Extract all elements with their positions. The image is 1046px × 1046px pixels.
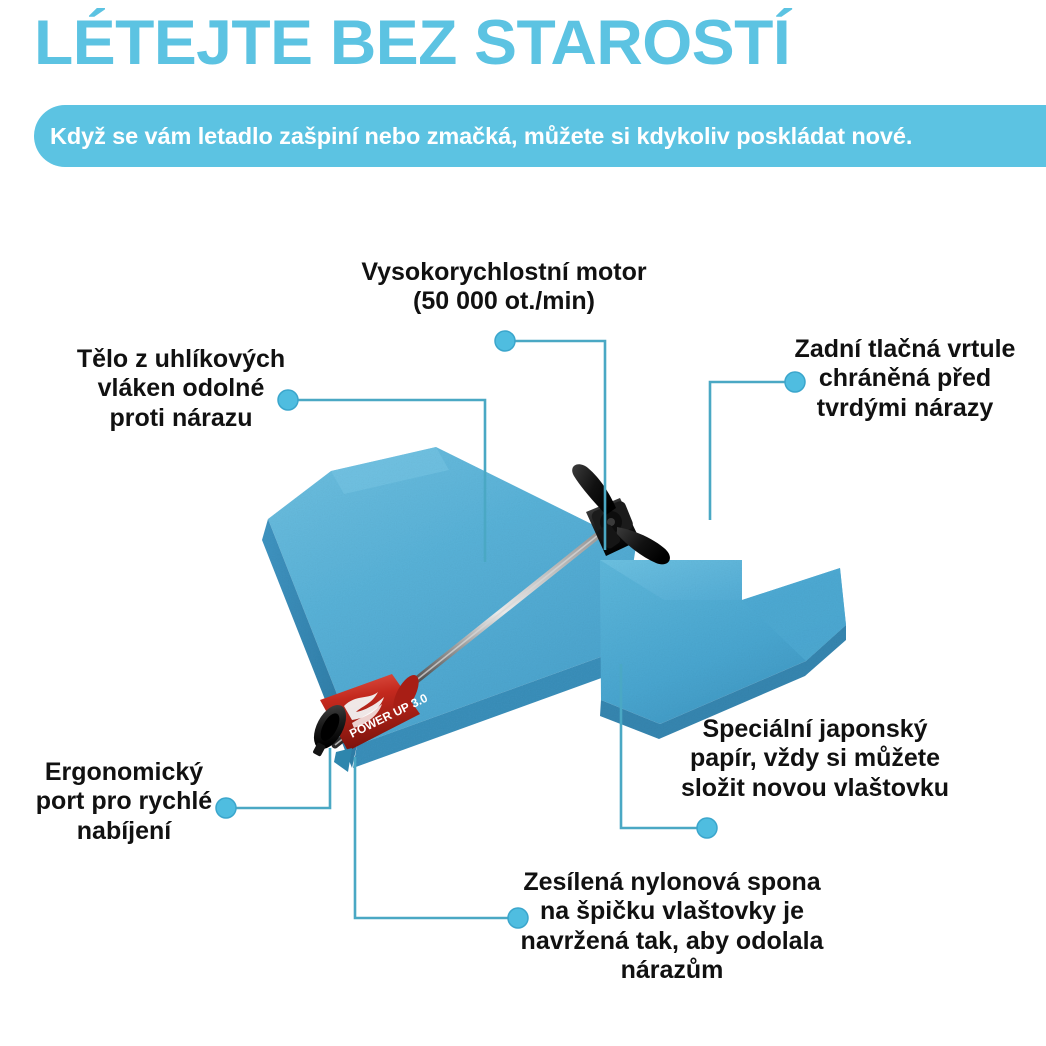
callout-motor: Vysokorychlostní motor (50 000 ot./min) [334, 258, 674, 317]
callout-body: Tělo z uhlíkových vláken odolné proti ná… [46, 345, 316, 433]
infographic-root: LÉTEJTE BEZ STAROSTÍ Když se vám letadlo… [0, 0, 1046, 1046]
callout-propeller: Zadní tlačná vrtule chráněná před tvrdým… [770, 335, 1040, 423]
callout-paper: Speciální japonský papír, vždy si můžete… [660, 715, 970, 803]
callout-nylon-clip: Zesílená nylonová spona na špičku vlašto… [497, 868, 847, 985]
callout-charging-port: Ergonomický port pro rychlé nabíjení [14, 758, 234, 846]
nylon-nose-clip [334, 748, 352, 772]
right-wing [600, 560, 846, 739]
